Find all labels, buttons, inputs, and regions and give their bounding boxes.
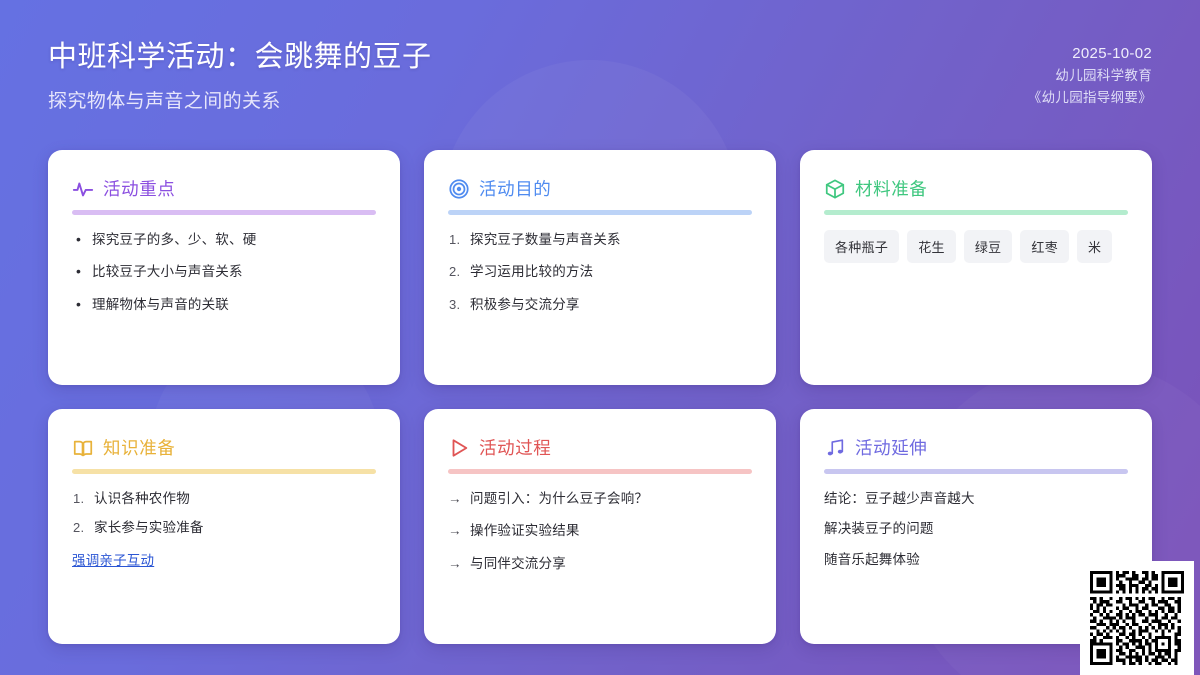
list-item: 学习运用比较的方法 — [448, 262, 752, 282]
card-knowledge-prep[interactable]: 知识准备 认识各种农作物 家长参与实验准备 强调亲子互动 — [48, 409, 400, 644]
list-item: 解决装豆子的问题 — [824, 519, 1128, 539]
card-body: 认识各种农作物 家长参与实验准备 强调亲子互动 — [72, 489, 376, 570]
card-activity-focus[interactable]: 活动重点 探究豆子的多、少、软、硬 比较豆子大小与声音关系 理解物体与声音的关联 — [48, 150, 400, 385]
material-chip[interactable]: 红枣 — [1020, 230, 1069, 263]
card-header: 活动过程 — [448, 435, 752, 460]
slide-header: 中班科学活动：会跳舞的豆子 探究物体与声音之间的关系 2025-10-02 幼儿… — [0, 0, 1200, 140]
qr-code[interactable] — [1090, 571, 1184, 665]
header-reference: 《幼儿园指导纲要》 — [1028, 87, 1152, 109]
package-box-icon — [824, 178, 846, 200]
card-body: 问题引入：为什么豆子会响？ 操作验证实验结果 与同伴交流分享 — [448, 489, 752, 586]
list-item: 操作验证实验结果 — [448, 521, 752, 541]
card-title: 材料准备 — [855, 176, 927, 201]
list-item: 探究豆子的多、少、软、硬 — [72, 230, 376, 250]
list-item: 与同伴交流分享 — [448, 554, 752, 574]
card-accent-rule — [72, 210, 376, 215]
card-title: 活动过程 — [479, 435, 551, 460]
list-item: 比较豆子大小与声音关系 — [72, 262, 376, 282]
play-triangle-icon — [448, 437, 470, 459]
card-activity-process[interactable]: 活动过程 问题引入：为什么豆子会响？ 操作验证实验结果 与同伴交流分享 — [424, 409, 776, 644]
material-chip[interactable]: 米 — [1077, 230, 1112, 263]
material-chip[interactable]: 绿豆 — [964, 230, 1013, 263]
music-notes-icon — [824, 437, 846, 459]
material-chip[interactable]: 各种瓶子 — [824, 230, 899, 263]
goals-list: 探究豆子数量与声音关系 学习运用比较的方法 积极参与交流分享 — [448, 230, 752, 315]
card-accent-rule — [72, 469, 376, 474]
card-grid: 活动重点 探究豆子的多、少、软、硬 比较豆子大小与声音关系 理解物体与声音的关联… — [48, 150, 1152, 644]
card-header: 活动延伸 — [824, 435, 1128, 460]
card-header: 活动目的 — [448, 176, 752, 201]
target-icon — [448, 178, 470, 200]
header-meta: 2025-10-02 幼儿园科学教育 《幼儿园指导纲要》 — [1028, 38, 1152, 108]
material-chip[interactable]: 花生 — [907, 230, 956, 263]
card-body: 各种瓶子 花生 绿豆 红枣 米 — [824, 230, 1128, 263]
card-title: 活动重点 — [103, 176, 175, 201]
card-header: 材料准备 — [824, 176, 1128, 201]
card-accent-rule — [824, 469, 1128, 474]
card-title: 活动目的 — [479, 176, 551, 201]
focus-list: 探究豆子的多、少、软、硬 比较豆子大小与声音关系 理解物体与声音的关联 — [72, 230, 376, 315]
list-item: 积极参与交流分享 — [448, 295, 752, 315]
list-item: 问题引入：为什么豆子会响？ — [448, 489, 752, 509]
title-block: 中班科学活动：会跳舞的豆子 探究物体与声音之间的关系 — [48, 38, 432, 113]
open-book-icon — [72, 437, 94, 459]
list-item: 探究豆子数量与声音关系 — [448, 230, 752, 250]
card-activity-goals[interactable]: 活动目的 探究豆子数量与声音关系 学习运用比较的方法 积极参与交流分享 — [424, 150, 776, 385]
knowledge-list: 认识各种农作物 家长参与实验准备 — [72, 489, 376, 539]
list-item: 认识各种农作物 — [72, 489, 376, 509]
card-title: 活动延伸 — [855, 435, 927, 460]
card-body: 探究豆子数量与声音关系 学习运用比较的方法 积极参与交流分享 — [448, 230, 752, 327]
activity-pulse-icon — [72, 178, 94, 200]
card-accent-rule — [824, 210, 1128, 215]
card-accent-rule — [448, 469, 752, 474]
card-header: 知识准备 — [72, 435, 376, 460]
header-org: 幼儿园科学教育 — [1028, 65, 1152, 87]
qr-panel — [1080, 561, 1194, 675]
header-date: 2025-10-02 — [1028, 42, 1152, 65]
page-subtitle: 探究物体与声音之间的关系 — [48, 86, 432, 113]
card-body: 探究豆子的多、少、软、硬 比较豆子大小与声音关系 理解物体与声音的关联 — [72, 230, 376, 327]
list-item: 理解物体与声音的关联 — [72, 295, 376, 315]
list-item: 结论：豆子越少声音越大 — [824, 489, 1128, 509]
card-title: 知识准备 — [103, 435, 175, 460]
card-materials[interactable]: 材料准备 各种瓶子 花生 绿豆 红枣 米 — [800, 150, 1152, 385]
list-item: 家长参与实验准备 — [72, 518, 376, 538]
parent-child-interaction-link[interactable]: 强调亲子互动 — [72, 549, 154, 569]
page-title: 中班科学活动：会跳舞的豆子 — [48, 38, 432, 77]
card-header: 活动重点 — [72, 176, 376, 201]
card-accent-rule — [448, 210, 752, 215]
materials-chip-list: 各种瓶子 花生 绿豆 红枣 米 — [824, 230, 1128, 263]
